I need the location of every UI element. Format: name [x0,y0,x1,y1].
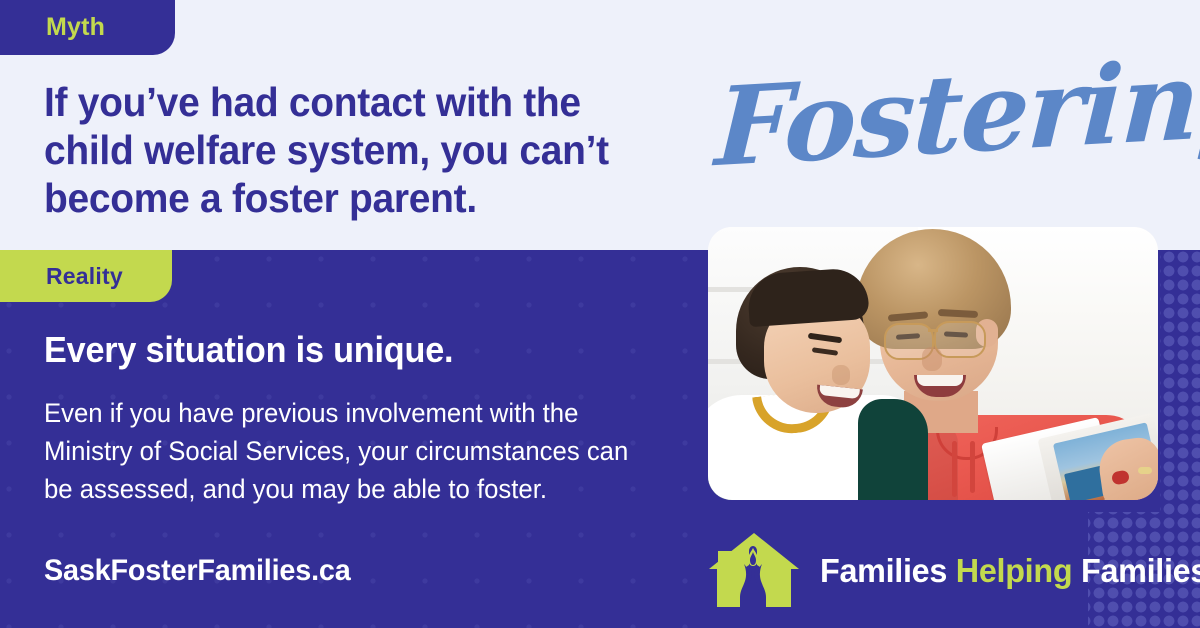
woman-ring [1138,467,1152,474]
logo-lockup[interactable]: Families Helping Families [706,531,1200,611]
house-with-two-faces-and-flame-icon [706,531,802,611]
reality-headline: Every situation is unique. [44,329,652,371]
website-url[interactable]: SaskFosterFamilies.ca [44,554,351,588]
woman-nose [922,347,942,371]
boy-nose [832,365,850,385]
reality-body-text: Even if you have previous involvement wi… [44,394,650,508]
family-photo [708,227,1158,500]
logo-text-part1: Families [820,552,956,589]
woman-blouse-tie [970,441,975,493]
woman-eyeglasses-bridge [928,329,938,332]
reality-badge: Reality [0,250,172,302]
fostering-script-wordmark: Fostering [713,41,1200,185]
logo-text-part2: Families [1072,552,1200,589]
woman-eyeglasses-lens [934,321,986,358]
poster-canvas: Myth If you’ve had contact with the chil… [0,0,1200,628]
myth-badge: Myth [0,0,175,55]
woman-teeth [917,375,963,386]
boy-sleeve [858,399,928,500]
myth-badge-label: Myth [46,13,105,42]
logo-wordmark: Families Helping Families [820,552,1200,590]
logo-text-highlight: Helping [956,552,1073,589]
reality-badge-label: Reality [46,263,123,290]
woman-blouse-tie [952,441,957,497]
myth-headline: If you’ve had contact with the child wel… [44,78,633,222]
